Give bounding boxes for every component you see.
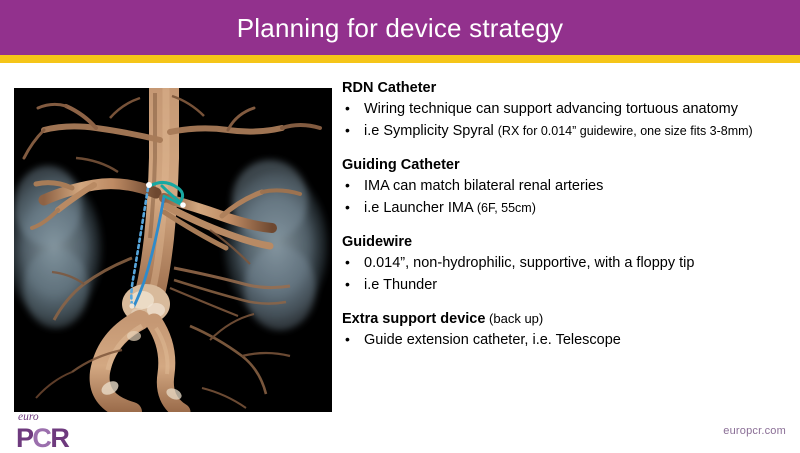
bullet-glyph: • bbox=[342, 198, 364, 218]
section-heading: Extra support device (back up) bbox=[342, 309, 794, 329]
bullet-main: Guide extension catheter, i.e. Telescope bbox=[364, 332, 621, 348]
bullet-text: 0.014”, non-hydrophilic, supportive, wit… bbox=[364, 253, 794, 274]
bullet-text: i.e Symplicity Spyral (RX for 0.014” gui… bbox=[364, 121, 794, 142]
bullet-paren: (RX for 0.014” guidewire, one size fits … bbox=[498, 124, 753, 138]
europcr-logo: euro PCR bbox=[16, 412, 90, 448]
list-item: • IMA can match bilateral renal arteries bbox=[342, 176, 794, 197]
logo-letter-r: R bbox=[50, 423, 68, 453]
bullet-text: i.e Thunder bbox=[364, 275, 794, 296]
section-heading-text: Guidewire bbox=[342, 234, 412, 250]
section-extra-support-device: Extra support device (back up) • Guide e… bbox=[342, 309, 794, 351]
section-spacer bbox=[342, 142, 794, 155]
bullet-main: 0.014”, non-hydrophilic, supportive, wit… bbox=[364, 255, 694, 271]
footer-website-url[interactable]: europcr.com bbox=[723, 425, 786, 437]
logo-letter-p: P bbox=[16, 423, 32, 453]
section-rdn-catheter: RDN Catheter • Wiring technique can supp… bbox=[342, 78, 794, 141]
list-item: • Wiring technique can support advancing… bbox=[342, 99, 794, 120]
list-item: • Guide extension catheter, i.e. Telesco… bbox=[342, 330, 794, 351]
section-heading: RDN Catheter bbox=[342, 78, 794, 98]
section-heading-note: (back up) bbox=[485, 311, 543, 326]
bullet-main: i.e Launcher IMA bbox=[364, 200, 477, 216]
section-heading: Guidewire bbox=[342, 232, 794, 252]
ct-angiography-render bbox=[14, 88, 332, 412]
bullet-glyph: • bbox=[342, 253, 364, 273]
slide-header-bar: Planning for device strategy bbox=[0, 0, 800, 55]
bullet-glyph: • bbox=[342, 176, 364, 196]
bullet-glyph: • bbox=[342, 121, 364, 141]
bullet-text: IMA can match bilateral renal arteries bbox=[364, 176, 794, 197]
bullet-glyph: • bbox=[342, 330, 364, 350]
section-spacer bbox=[342, 219, 794, 232]
list-item: • i.e Symplicity Spyral (RX for 0.014” g… bbox=[342, 121, 794, 142]
bullet-text: Guide extension catheter, i.e. Telescope bbox=[364, 330, 794, 351]
bullet-text: i.e Launcher IMA (6F, 55cm) bbox=[364, 198, 794, 219]
ct-angiography-figure bbox=[14, 88, 332, 412]
section-heading-text: Extra support device bbox=[342, 311, 485, 327]
page-title: Planning for device strategy bbox=[237, 15, 563, 41]
bullet-paren: (6F, 55cm) bbox=[477, 201, 536, 215]
logo-letter-c: C bbox=[32, 423, 50, 453]
section-heading-text: Guiding Catheter bbox=[342, 157, 460, 173]
bullet-glyph: • bbox=[342, 99, 364, 119]
section-guiding-catheter: Guiding Catheter • IMA can match bilater… bbox=[342, 155, 794, 218]
bullet-glyph: • bbox=[342, 275, 364, 295]
bullet-main: Wiring technique can support advancing t… bbox=[364, 101, 738, 117]
bullet-text: Wiring technique can support advancing t… bbox=[364, 99, 794, 120]
section-spacer bbox=[342, 296, 794, 309]
accent-stripe bbox=[0, 55, 800, 63]
bullet-main: i.e Symplicity Spyral bbox=[364, 123, 498, 139]
section-heading-text: RDN Catheter bbox=[342, 80, 436, 96]
section-guidewire: Guidewire • 0.014”, non-hydrophilic, sup… bbox=[342, 232, 794, 295]
bullet-main: IMA can match bilateral renal arteries bbox=[364, 178, 603, 194]
section-heading: Guiding Catheter bbox=[342, 155, 794, 175]
list-item: • i.e Thunder bbox=[342, 275, 794, 296]
list-item: • 0.014”, non-hydrophilic, supportive, w… bbox=[342, 253, 794, 274]
logo-pcr-text: PCR bbox=[16, 425, 90, 452]
content-column: RDN Catheter • Wiring technique can supp… bbox=[342, 78, 794, 352]
bullet-main: i.e Thunder bbox=[364, 277, 437, 293]
list-item: • i.e Launcher IMA (6F, 55cm) bbox=[342, 198, 794, 219]
